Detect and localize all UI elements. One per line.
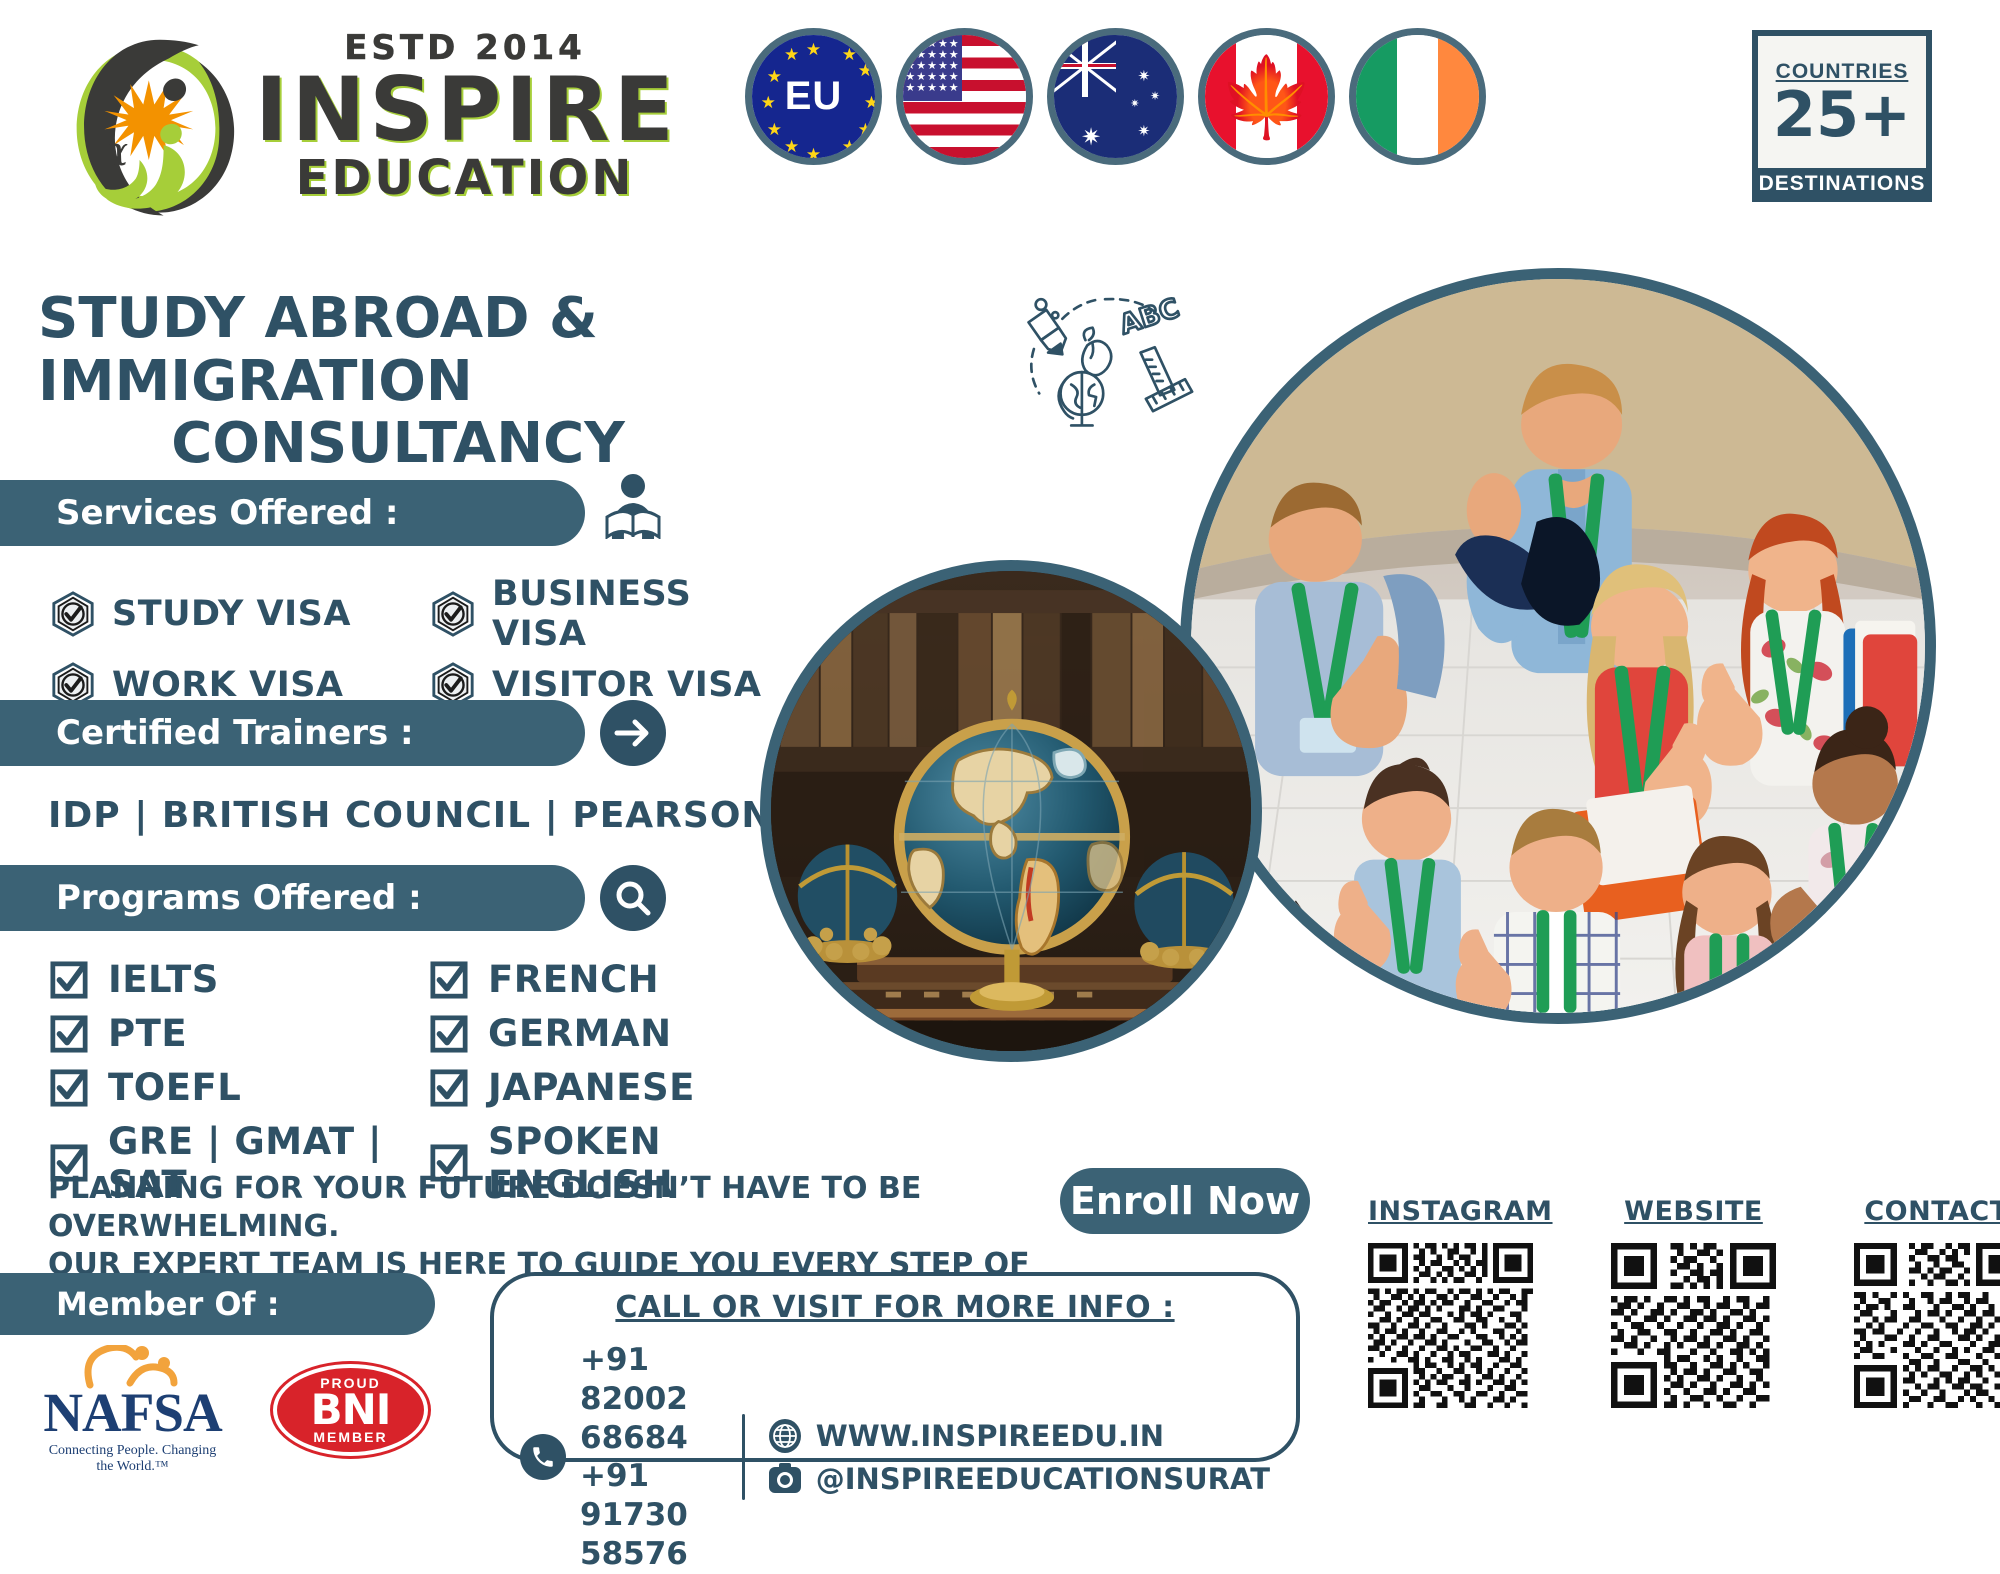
program-item: GERMAN <box>430 1012 810 1055</box>
program-label: TOEFL <box>108 1066 241 1109</box>
phone-number-1[interactable]: +91 82002 68684 <box>580 1341 720 1457</box>
service-label: VISITOR VISA <box>492 665 762 705</box>
service-label: BUSINESS VISA <box>492 574 770 654</box>
bni-logo: PROUD BNI MEMBER <box>273 1364 428 1456</box>
instagram-icon <box>767 1461 803 1497</box>
page-title: STUDY ABROAD & IMMIGRATION CONSULTANCY <box>38 288 968 476</box>
header: α ESTD 2014 INSPIRE EDUCATION EU ★ ★ ★ ★… <box>0 0 2000 250</box>
trainers-heading-pill: Certified Trainers : <box>0 700 585 766</box>
website-url[interactable]: WWW.INSPIREEDU.IN <box>816 1419 1164 1453</box>
qr-instagram-block[interactable]: INSTAGRAM <box>1368 1196 1533 1413</box>
program-label: JAPANESE <box>488 1066 695 1109</box>
brand-wordmark: ESTD 2014 INSPIRE EDUCATION <box>255 28 675 204</box>
checkbox-icon <box>50 961 88 999</box>
globe-icon <box>767 1418 803 1454</box>
countries-badge: COUNTRIES 25+ DESTINATIONS <box>1752 30 1932 202</box>
program-item: PTE <box>50 1012 430 1055</box>
instagram-handle[interactable]: @INSPIREEDUCATIONSURAT <box>816 1462 1270 1496</box>
member-logos: NAFSA Connecting People. Changing the Wo… <box>40 1345 428 1475</box>
program-item: TOEFL <box>50 1066 430 1109</box>
inspire-logo-mark: α <box>60 36 245 221</box>
qr-label: INSTAGRAM <box>1368 1196 1533 1227</box>
brand-name-line1: INSPIRE <box>255 68 675 152</box>
instagram-row[interactable]: @INSPIREEDUCATIONSURAT <box>767 1461 1270 1497</box>
pencil-doodle-icon <box>1029 310 1066 354</box>
programs-heading-pill: Programs Offered : <box>0 865 585 931</box>
program-item: FRENCH <box>430 958 810 1001</box>
poster-canvas: α ESTD 2014 INSPIRE EDUCATION EU ★ ★ ★ ★… <box>0 0 2000 1481</box>
program-label: PTE <box>108 1012 187 1055</box>
countries-badge-number: 25+ <box>1773 84 1911 146</box>
hex-check-icon <box>50 591 96 637</box>
program-label: IELTS <box>108 958 219 1001</box>
united-states-flag: ★★★★★★★★★★★★★★★★★★★★★★★★★ <box>896 28 1033 165</box>
brand-logo[interactable]: α ESTD 2014 INSPIRE EDUCATION <box>60 18 680 233</box>
hex-check-icon <box>430 591 476 637</box>
programs-heading-label: Programs Offered : <box>56 878 422 918</box>
dashed-arc-top <box>1062 299 1099 319</box>
program-label: FRENCH <box>488 958 659 1001</box>
svg-text:α: α <box>101 128 128 176</box>
brand-name-line2: EDUCATION <box>255 152 675 205</box>
page-title-line1: STUDY ABROAD & IMMIGRATION <box>38 286 598 414</box>
trainers-heading-label: Certified Trainers : <box>56 713 414 753</box>
page-title-line2: CONSULTANCY <box>38 413 968 476</box>
program-label: GERMAN <box>488 1012 672 1055</box>
bni-bottom-label: MEMBER <box>313 1429 387 1445</box>
member-of-heading-label: Member Of : <box>56 1285 279 1323</box>
reading-person-icon <box>600 473 666 539</box>
bni-wordmark: BNI <box>311 1391 391 1430</box>
services-heading-pill: Services Offered : <box>0 480 585 546</box>
enroll-now-button[interactable]: Enroll Now <box>1060 1168 1310 1234</box>
eu-flag-label: EU <box>785 74 843 119</box>
qr-instagram[interactable] <box>1368 1243 1533 1408</box>
qr-label: WEBSITE <box>1611 1196 1776 1227</box>
qr-code-section: INSTAGRAM <box>1368 1196 2000 1413</box>
service-item: BUSINESS VISA <box>430 574 770 654</box>
canada-flag: 🍁 <box>1198 28 1335 165</box>
education-doodles: ABC <box>1015 285 1195 445</box>
contact-divider <box>742 1414 745 1500</box>
checkbox-icon <box>430 961 468 999</box>
service-label: STUDY VISA <box>112 594 351 634</box>
search-icon[interactable] <box>600 865 666 931</box>
checkbox-icon <box>50 1069 88 1107</box>
nafsa-logo: NAFSA Connecting People. Changing the Wo… <box>40 1345 225 1475</box>
service-item: STUDY VISA <box>50 574 430 654</box>
nafsa-wordmark: NAFSA <box>40 1385 225 1440</box>
qr-contact[interactable] <box>1854 1243 2000 1408</box>
flag-row: EU ★ ★ ★ ★ ★ ★ ★ ★ ★ ★ ★ ★ <box>745 28 1486 165</box>
australia-flag: ✷ ✷ ✷ ✷ ✷ <box>1047 28 1184 165</box>
phone-icon <box>520 1434 566 1480</box>
countries-badge-bottom-label: DESTINATIONS <box>1758 168 1926 196</box>
phone-group[interactable]: +91 82002 68684 +91 91730 58576 <box>520 1341 720 1574</box>
website-row[interactable]: WWW.INSPIREEDU.IN <box>767 1418 1270 1454</box>
apple-doodle-icon <box>1082 328 1111 376</box>
checkbox-icon <box>50 1015 88 1053</box>
services-heading-label: Services Offered : <box>56 493 399 533</box>
ireland-flag <box>1349 28 1486 165</box>
european-union-flag: EU ★ ★ ★ ★ ★ ★ ★ ★ ★ ★ ★ ★ <box>745 28 882 165</box>
tagline-line1: PLANNING FOR YOUR FUTURE DOESN’T HAVE TO… <box>48 1170 1058 1246</box>
services-list: STUDY VISA BUSINESS VISA WORK VISA VISIT… <box>50 574 770 708</box>
qr-contact-block[interactable]: CONTACT <box>1854 1196 2000 1413</box>
phone-number-2[interactable]: +91 91730 58576 <box>580 1457 720 1573</box>
checkbox-icon <box>430 1015 468 1053</box>
bubble-dot-small-icon <box>1052 312 1058 318</box>
service-label: WORK VISA <box>112 665 344 705</box>
ruler-doodle-icon <box>1141 347 1193 411</box>
program-item: JAPANESE <box>430 1066 810 1109</box>
qr-label: CONTACT <box>1854 1196 2000 1227</box>
globe-doodle-icon <box>1059 372 1104 425</box>
member-of-heading-pill: Member Of : <box>0 1273 435 1335</box>
qr-website-block[interactable]: WEBSITE <box>1611 1196 1776 1413</box>
nafsa-tagline: Connecting People. Changing the World.™ <box>40 1443 225 1475</box>
programs-list: IELTS FRENCH PTE GERMAN TOEFL JAPANESE G… <box>50 958 830 1206</box>
qr-website[interactable] <box>1611 1243 1776 1408</box>
contact-card-title: CALL OR VISIT FOR MORE INFO : <box>520 1290 1270 1325</box>
globe-photo <box>760 560 1262 1062</box>
bubble-dot-icon <box>1036 299 1047 310</box>
program-item: IELTS <box>50 958 430 1001</box>
students-photo <box>1180 268 1936 1024</box>
dashed-arc-left <box>1031 349 1039 393</box>
checkbox-icon <box>430 1069 468 1107</box>
trainers-list: IDP | BRITISH COUNCIL | PEARSON <box>48 795 773 836</box>
contact-card: CALL OR VISIT FOR MORE INFO : +91 82002 … <box>490 1272 1300 1462</box>
arrow-right-icon[interactable] <box>600 700 666 766</box>
